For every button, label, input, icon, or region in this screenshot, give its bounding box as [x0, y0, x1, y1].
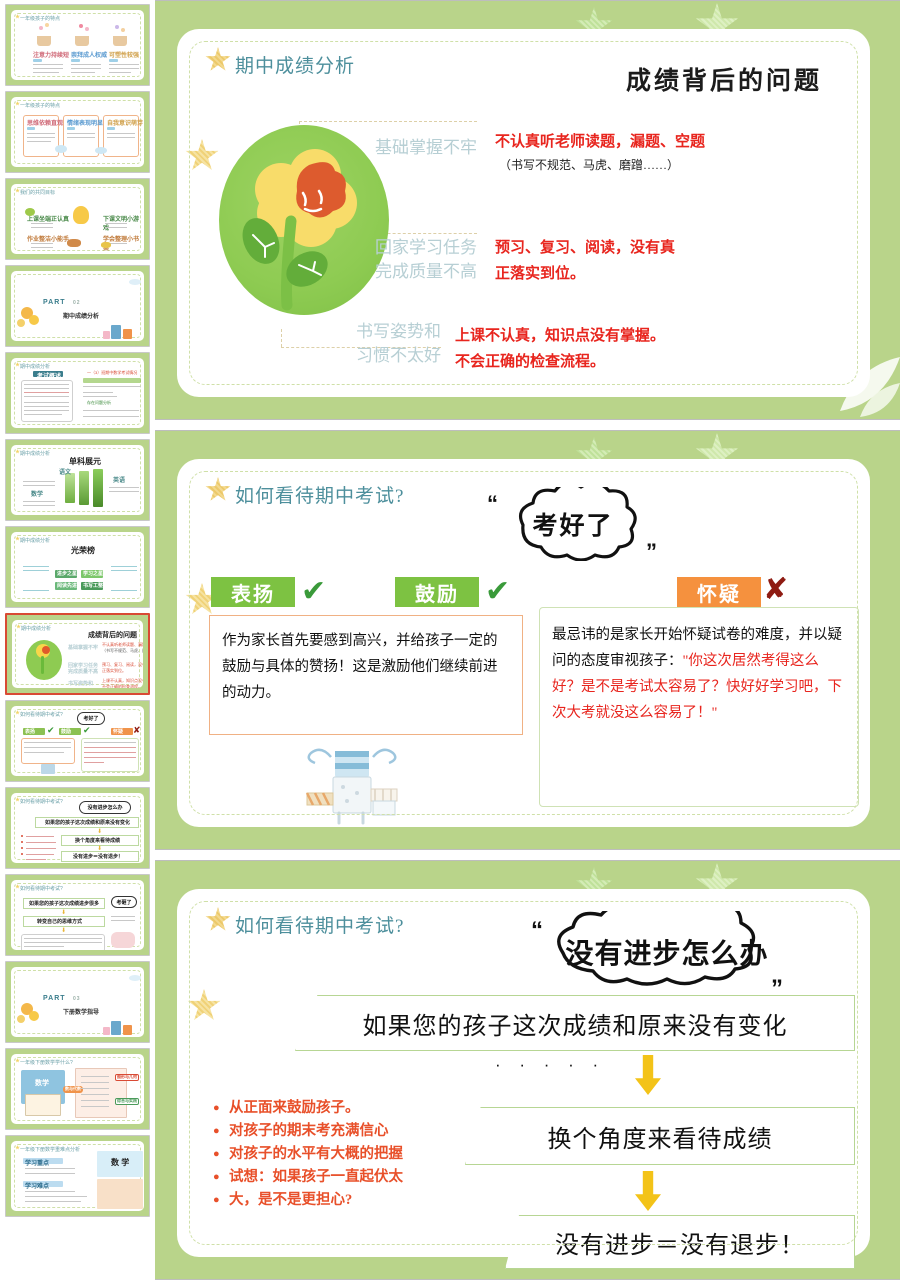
slide-thumbnail-6[interactable]: 期中成绩分析 单科展元 语文 数学 英语 [5, 439, 150, 521]
cross-icon: ✘ [133, 726, 141, 735]
check-icon: ✔ [47, 726, 55, 735]
slide-thumbnail-3[interactable]: 我们的共同目标 上课坐端正认真 下课文明小游戏 作业整洁小能手 学会整理小书桌 [5, 178, 150, 260]
slide-2-right-text: 最忌讳的是家长开始怀疑试卷的难度，并以疑问的态度审视孩子："你这次居然考得这么好… [539, 607, 859, 807]
thumb-col-1: 注意力持续短 [33, 50, 69, 59]
thumb-col-3: 自我意识萌芽 [107, 118, 143, 127]
star-icon [205, 47, 231, 73]
thumb-bubble: 考好了 [77, 712, 105, 725]
leaf-decoration [810, 349, 900, 419]
check-icon: ✔ [301, 577, 326, 607]
slide-3-bullet-list: 从正面来鼓励孩子。 对孩子的期末考充满信心 对孩子的水平有大概的把握 试想：如果… [213, 1097, 403, 1212]
thumb-cell-4: 书写工整 [83, 582, 103, 589]
slide-thumbnail-7[interactable]: 期中成绩分析 光荣榜 进步之星 学习之星 阅读先进 书写工整 [5, 526, 150, 608]
thumb-title: 期中成绩分析 [20, 363, 50, 370]
thumb-part-label: PART [43, 299, 66, 306]
slide-1-row-3-label-2: 习惯不太好 [319, 345, 441, 367]
slide-thumbnail-4[interactable]: PART 02 期中成绩分析 [5, 265, 150, 347]
slide-3-bubble-group: 没有进步怎么办 “ ” [527, 911, 807, 993]
star-icon [205, 907, 231, 933]
thumb-headline: 考试概述 [37, 371, 61, 380]
check-icon: ✔ [485, 577, 510, 607]
thumb-part-number: 03 [73, 996, 81, 1002]
thumb-headline: 光荣榜 [71, 545, 95, 556]
badge-doubt: 怀疑 [677, 577, 761, 607]
thumb-section-2: 学习难点 [25, 1181, 49, 1190]
slide-2-head: 如何看待期中考试? [235, 481, 404, 508]
thumb-title: 期中成绩分析 [21, 625, 51, 632]
thumb-title: 我们的共同目标 [20, 189, 55, 196]
list-item: 对孩子的期末考充满信心 [213, 1120, 403, 1143]
thumb-banner-2: 转变自己的思维方式 [37, 918, 82, 925]
slide-3-banner-1: 如果您的孩子这次成绩和原来没有变化 [295, 995, 855, 1051]
slide-thumbnail-11[interactable]: 如何看待期中考试? 考砸了 如果您的孩子这次成绩进步很多 转变自己的思维方式 ⬇… [5, 874, 150, 956]
thumb-cell-3: 阅读先进 [57, 582, 77, 589]
slide-1-row-2-red-2: 正落实到位。 [495, 263, 585, 285]
thumb-bubble: 考砸了 [111, 896, 137, 908]
slide-1-row-2-label-1: 回家学习任务 [355, 237, 477, 259]
slide-1-row-2-red-1: 预习、复习、阅读，没有真 [495, 237, 675, 259]
list-item: 从正面来鼓励孩子。 [213, 1097, 403, 1120]
arrow-down-icon [635, 1171, 661, 1211]
slide-thumbnail-14[interactable]: 一年级下册数学重难点分析 学习重点 学习难点 数 学 [5, 1135, 150, 1217]
slide-1-row-1-red: 不认真听老师读题，漏题、空题 [495, 131, 705, 153]
slide-1-row-1-sub: （书写不规范、马虎、磨蹭……） [499, 156, 679, 173]
slide-3-card: 如何看待期中考试? 没有进步怎么办 “ ” 如果您的孩子这次成绩和原来没有变化 … [177, 889, 870, 1257]
list-item: 大，是不是更担心? [213, 1189, 403, 1212]
presentation-viewer: 一年级孩子的特点 注意力持续短 崇拜成人权威 可塑性较强 [0, 0, 900, 1286]
thumb-col-1: 思维依赖直观 [27, 118, 63, 127]
thumb-banner-1: 如果您的孩子这次成绩和原来没有变化 [45, 819, 130, 826]
thumb-headline: 单科展元 [69, 456, 101, 467]
thumb-headline: 成绩背后的问题 [88, 630, 137, 640]
slide-2-card: 如何看待期中考试? 考好了 “ ” 表扬 ✔ 鼓励 ✔ 怀疑 ✘ [177, 459, 870, 827]
slide-thumbnail-13[interactable]: 一年级下册数学学什么? 数学 数与代数 图形与几何 综合与实践 [5, 1048, 150, 1130]
slide-1-row-3-red-1: 上课不认真，知识点没有掌握。 [455, 325, 665, 347]
star-icon [187, 989, 221, 1023]
thumb-title: 期中成绩分析 [20, 450, 50, 457]
thumb-col-2: 崇拜成人权威 [71, 50, 107, 59]
thumb-subject-2: 数学 [31, 489, 43, 498]
slide-2-left-text: 作为家长首先要感到高兴，并给孩子一定的鼓励与具体的赞扬！这是激励他们继续前进的动… [209, 615, 523, 735]
slide-thumbnail-2[interactable]: 一年级孩子的特点 思维依赖直观 情绪表现明显 自我意识萌芽 [5, 91, 150, 173]
thumb-badge-3: 怀疑 [113, 728, 123, 735]
slide-1-title: 成绩背后的问题 [626, 61, 822, 97]
thumb-subject-3: 英语 [113, 475, 125, 484]
slide-thumbnail-9[interactable]: 如何看待期中考试? 考好了 表扬 鼓励 怀疑 ✔ ✔ ✘ [5, 700, 150, 782]
thumb-title: 一年级下册数学重难点分析 [20, 1146, 80, 1153]
cross-icon: ✘ [763, 575, 788, 605]
slide-1-card: 期中成绩分析 成绩背后的问题 [177, 29, 870, 397]
thumb-node-2: 图形与几何 [117, 1074, 137, 1080]
badge-praise: 表扬 [211, 577, 295, 607]
slide-thumbnail-sidebar[interactable]: 一年级孩子的特点 注意力持续短 崇拜成人权威 可塑性较强 [0, 0, 155, 1286]
slide-3-banner-2: 换个角度来看待成绩 [465, 1107, 855, 1165]
slide-thumbnail-12[interactable]: PART 03 下册数学指导 [5, 961, 150, 1043]
slide-2-bubble-group: 考好了 “ ” [493, 487, 653, 561]
thumb-cell-2: 学习之星 [83, 570, 103, 577]
thumb-book-label: 数 学 [111, 1157, 129, 1168]
slide-3-head: 如何看待期中考试? [235, 911, 404, 938]
thumb-title: 如何看待期中考试? [20, 798, 63, 805]
slide-1-head: 期中成绩分析 [235, 51, 355, 78]
house-illustration [295, 741, 415, 827]
thumb-goal-3: 作业整洁小能手 [27, 234, 69, 243]
star-icon [205, 477, 231, 503]
list-item: 对孩子的水平有大概的把握 [213, 1143, 403, 1166]
thumb-title: 如何看待期中考试? [20, 711, 63, 718]
thumb-node-1: 数与代数 [65, 1086, 81, 1092]
thumb-banner-2: 换个角度来看待成绩 [75, 837, 120, 844]
slide-thumbnail-1[interactable]: 一年级孩子的特点 注意力持续短 崇拜成人权威 可塑性较强 [5, 4, 150, 86]
thumb-subject-1: 语文 [59, 467, 71, 476]
thumb-cell-1: 进步之星 [57, 570, 77, 577]
thumb-banner-1: 如果您的孩子这次成绩进步很多 [29, 900, 99, 907]
thumb-col-3: 可塑性较强 [109, 50, 139, 59]
slide-1[interactable]: 期中成绩分析 成绩背后的问题 [155, 0, 900, 420]
thumb-part-title: 下册数学指导 [63, 1007, 99, 1016]
thumb-title: 期中成绩分析 [20, 537, 50, 544]
thumb-title: 一年级下册数学学什么? [20, 1059, 73, 1066]
slide-2-bubble-text: 考好了 [493, 487, 653, 561]
thumb-col-2: 情绪表现明显 [67, 118, 103, 127]
thumb-part-title: 期中成绩分析 [63, 311, 99, 320]
thumb-badge-2: 鼓励 [61, 728, 71, 735]
thumb-badge-1: 表扬 [25, 728, 35, 735]
thumb-title: 一年级孩子的特点 [20, 15, 60, 22]
thumb-title: 如何看待期中考试? [20, 885, 63, 892]
list-item: 试想：如果孩子一直起伏太 [213, 1166, 403, 1189]
slide-3[interactable]: 如何看待期中考试? 没有进步怎么办 “ ” 如果您的孩子这次成绩和原来没有变化 … [155, 860, 900, 1280]
thumb-title: 一年级孩子的特点 [20, 102, 60, 109]
check-icon: ✔ [83, 726, 91, 735]
slide-1-row-3-label-1: 书写姿势和 [319, 321, 441, 343]
badge-encourage: 鼓励 [395, 577, 479, 607]
slide-thumbnail-5[interactable]: 期中成绩分析 考试概述 一（3）班期中数学考试情况 存在问题分析 [5, 352, 150, 434]
thumb-part-label: PART [43, 995, 66, 1002]
slide-thumbnail-8[interactable]: 期中成绩分析 成绩背后的问题 基础掌握不牢 不认真听老师读题、漏题、空题 （书写… [5, 613, 150, 695]
slide-stage: 期中成绩分析 成绩背后的问题 [155, 0, 900, 1286]
thumb-node-3: 综合与实践 [117, 1098, 137, 1104]
slide-3-dots: · · · · · [495, 1055, 605, 1075]
slide-1-row-3-red-2: 不会正确的检查流程。 [455, 351, 605, 373]
slide-3-banner-3: 没有进步＝没有退步！ [505, 1215, 855, 1269]
slide-2[interactable]: 如何看待期中考试? 考好了 “ ” 表扬 ✔ 鼓励 ✔ 怀疑 ✘ [155, 430, 900, 850]
thumb-bubble: 没有进步怎么办 [79, 801, 131, 814]
slide-thumbnail-10[interactable]: 如何看待期中考试? 没有进步怎么办 如果您的孩子这次成绩和原来没有变化 换个角度… [5, 787, 150, 869]
thumb-part-number: 02 [73, 300, 81, 306]
thumb-book-label: 数学 [35, 1078, 49, 1088]
slide-1-row-2-label-2: 完成质量不高 [355, 261, 477, 283]
slide-1-row-1-label: 基础掌握不牢 [355, 137, 477, 159]
slide-3-bubble-text: 没有进步怎么办 [527, 911, 807, 993]
thumb-right-headline: 一（3）班期中数学考试情况 [87, 370, 137, 376]
thumb-goal-1: 上课坐端正认真 [27, 214, 69, 223]
star-icon [185, 139, 219, 173]
thumb-section-1: 学习重点 [25, 1158, 49, 1167]
arrow-down-icon [635, 1055, 661, 1095]
thumb-banner-3: 没有进步＝没有退步！ [73, 853, 123, 860]
